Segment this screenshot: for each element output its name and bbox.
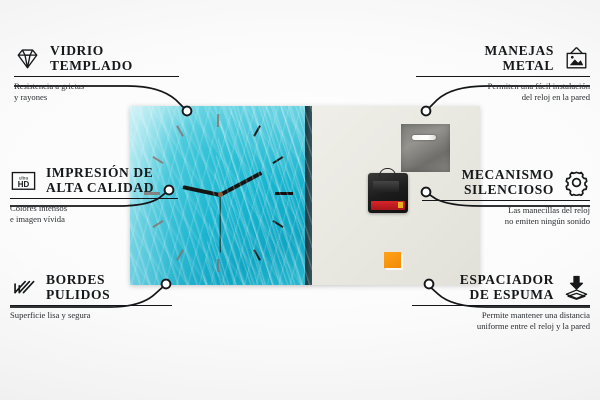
mechanism-hook [379,168,396,177]
tick-2 [272,156,283,164]
feature-desc-line1: Colores intensos [10,203,178,214]
feature-title-line2: METAL [485,59,554,74]
hour-hand [182,185,220,197]
glass-edge [305,106,312,285]
quartz-clock-mechanism [368,173,408,213]
tick-11 [176,125,184,136]
tick-7 [176,249,184,260]
feature-title-line2: PULIDOS [46,288,110,303]
feature-espaciador-espuma: ESPACIADOR DE ESPUMA Permite mantener un… [412,273,590,332]
feature-title-line1: IMPRESIÓN DE [46,166,154,181]
infographic-canvas: VIDRIO TEMPLADO Resistencia a grietas y … [0,0,600,400]
tick-12 [217,114,219,127]
feature-rule [412,305,590,306]
mechanism-face [373,181,399,192]
feature-bordes-pulidos: BORDES PULIDOS Superficie lisa y segura [10,273,172,321]
feature-desc-line1: Superficie lisa y segura [10,310,172,321]
svg-text:HD: HD [18,180,30,189]
feature-desc-line2: e imagen vívida [10,214,178,225]
feature-manejas-metal: MANEJAS METAL Permiten una fácil instala… [416,44,590,103]
orange-foam-spacer [384,252,401,268]
tick-5 [253,249,261,260]
feature-desc-line2: no emiten ningún sonido [422,216,590,227]
feature-rule [10,198,178,199]
feature-rule [14,76,179,77]
feature-title-line2: SILENCIOSO [462,183,554,198]
foam-spacer-icon [563,274,590,301]
feature-title-line2: TEMPLADO [50,59,133,74]
hand-center-cap [218,192,223,197]
metal-hanger-plate [401,124,450,172]
diamond-icon [14,45,41,72]
feature-impresion-alta-calidad: ultra HD IMPRESIÓN DE ALTA CALIDAD Color… [10,166,178,225]
tick-10 [152,156,163,164]
picture-hanger-icon [563,45,590,72]
tick-1 [253,125,261,136]
feature-title-line1: MANEJAS [485,44,554,59]
battery-terminal [398,202,403,208]
feature-rule [422,200,590,201]
minute-hand [219,171,262,197]
red-battery [371,201,405,210]
feature-desc-line2: del reloj en la pared [416,92,590,103]
feature-title-line1: MECANISMO [462,168,554,183]
tick-6 [217,259,219,272]
tick-3 [275,192,293,195]
feature-title-line1: ESPACIADOR [460,273,554,288]
feature-desc-line2: uniforme entre el reloj y la pared [412,321,590,332]
feature-title-line1: VIDRIO [50,44,133,59]
feature-rule [416,76,590,77]
feature-desc-line1: Resistencia a grietas [14,81,179,92]
feature-vidrio-templado: VIDRIO TEMPLADO Resistencia a grietas y … [14,44,179,103]
tick-4 [272,220,283,228]
ultra-hd-icon: ultra HD [10,167,37,194]
second-hand [219,195,220,253]
feature-desc-line1: Las manecillas del reloj [422,205,590,216]
feature-desc-line2: y rayones [14,92,179,103]
feature-title-line2: ALTA CALIDAD [46,181,154,196]
feature-desc-line1: Permite mantener una distancia [412,310,590,321]
feature-rule [10,305,172,306]
hanger-slot [412,135,436,140]
polished-edges-icon [10,274,37,301]
feature-title-line2: DE ESPUMA [460,288,554,303]
feature-desc-line1: Permiten una fácil instalación [416,81,590,92]
feature-mecanismo-silencioso: MECANISMO SILENCIOSO Las manecillas del … [422,168,590,227]
gear-icon [563,169,590,196]
feature-title-line1: BORDES [46,273,110,288]
